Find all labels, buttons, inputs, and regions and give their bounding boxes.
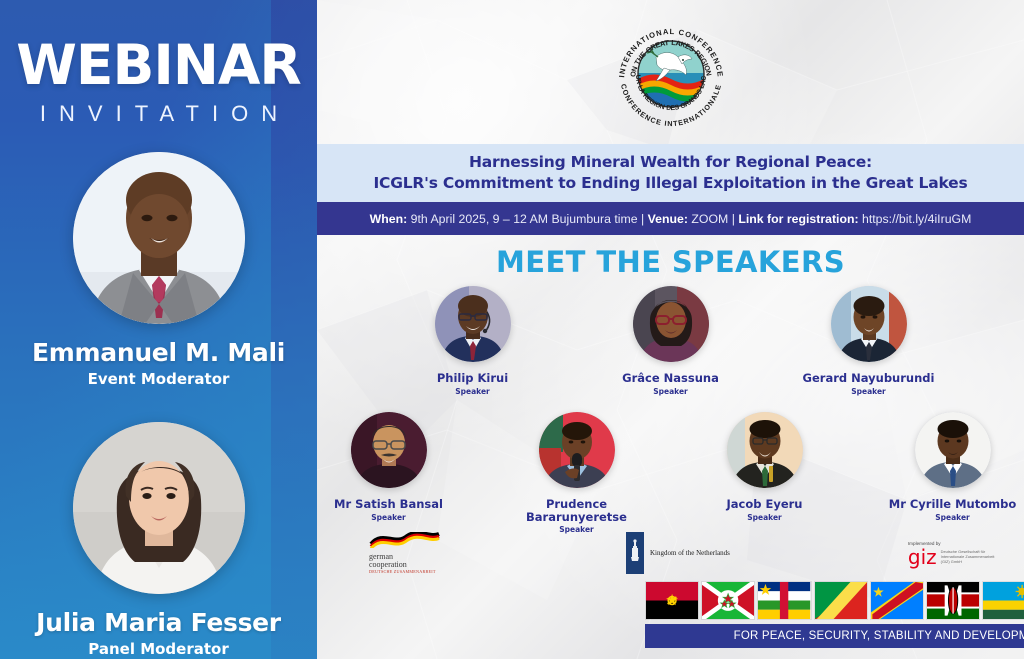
- speaker-card-gerard-nayuburundi: Gerard Nayuburundi Speaker: [802, 286, 936, 396]
- avatar-emmanuel-mali: [73, 152, 245, 324]
- speaker-card-prudence-bararunyeretse: Prudence Bararunyeretse Speaker: [510, 412, 644, 534]
- logo-area: INTERNATIONAL CONFERENCE ON THE GREAT LA…: [317, 8, 1024, 140]
- avatar-jacob-eyeru: [727, 412, 803, 488]
- speakers-row-2: Mr Satish Bansal Speaker: [317, 412, 1024, 534]
- flag-kenya: [926, 581, 980, 620]
- details-separator-1: |: [641, 212, 644, 226]
- registration-link-url[interactable]: https://bit.ly/4iIruGM: [862, 212, 971, 226]
- moderator-card-emmanuel-mali: Emmanuel M. Mali Event Moderator: [0, 152, 317, 388]
- sponsor-giz: Implemented by giz Deutsche Gesellschaft…: [908, 541, 1003, 566]
- venue-value: ZOOM: [691, 212, 728, 226]
- flag-burundi: [701, 581, 755, 620]
- speaker-role: Speaker: [698, 513, 832, 522]
- webinar-invitation-poster: WEBINAR INVITATION: [0, 0, 1024, 659]
- tagline-text: FOR PEACE, SECURITY, STABILITY AND DEVEL…: [734, 630, 1024, 642]
- registration-link-label: Link for registration:: [738, 212, 858, 226]
- moderator-role: Panel Moderator: [0, 640, 317, 658]
- poster-title-block: WEBINAR INVITATION: [0, 38, 317, 127]
- speaker-name: Grâce Nassuna: [604, 372, 738, 385]
- german-flag-swoosh-icon: [369, 532, 441, 548]
- speakers-row-1: Philip Kirui Speaker: [317, 286, 1024, 396]
- flag-congo: [814, 581, 868, 620]
- speaker-role: Speaker: [406, 387, 540, 396]
- giz-full-name: Deutsche Gesellschaft für Internationale…: [941, 549, 1003, 564]
- speaker-name: Gerard Nayuburundi: [802, 372, 936, 385]
- speaker-role: Speaker: [322, 513, 456, 522]
- event-details-band: When: 9th April 2025, 9 – 12 AM Bujumbur…: [317, 202, 1024, 235]
- avatar-grace-nassuna: [633, 286, 709, 362]
- event-title-line-1: Harnessing Mineral Wealth for Regional P…: [469, 152, 872, 173]
- speaker-card-grace-nassuna: Grâce Nassuna Speaker: [604, 286, 738, 396]
- netherlands-label: Kingdom of the Netherlands: [650, 549, 730, 557]
- speakers-heading: MEET THE SPEAKERS: [317, 245, 1024, 279]
- moderator-name: Julia Maria Fesser: [0, 608, 317, 637]
- moderator-role: Event Moderator: [0, 370, 317, 388]
- speaker-name: Mr Satish Bansal: [322, 498, 456, 511]
- speaker-role: Speaker: [886, 513, 1020, 522]
- details-separator-2: |: [732, 212, 735, 226]
- left-panel: WEBINAR INVITATION: [0, 0, 317, 659]
- speaker-name: Mr Cyrille Mutombo: [886, 498, 1020, 511]
- page-title: WEBINAR: [0, 38, 317, 93]
- speaker-card-satish-bansal: Mr Satish Bansal Speaker: [322, 412, 456, 534]
- flag-rwanda: [982, 581, 1024, 620]
- giz-wordmark: giz: [908, 548, 937, 566]
- when-value: 9th April 2025, 9 – 12 AM Bujumbura time: [411, 212, 638, 226]
- moderator-name: Emmanuel M. Mali: [0, 338, 317, 367]
- avatar-philip-kirui: [435, 286, 511, 362]
- german-cooperation-line-3: DEUTSCHE ZUSAMMENARBEIT: [369, 570, 441, 574]
- speaker-name: Philip Kirui: [406, 372, 540, 385]
- page-subtitle: INVITATION: [0, 101, 317, 127]
- when-label: When:: [370, 212, 408, 226]
- speaker-card-jacob-eyeru: Jacob Eyeru Speaker: [698, 412, 832, 534]
- flag-central-african-republic: [757, 581, 811, 620]
- avatar-julia-fesser: [73, 422, 245, 594]
- event-title-band: Harnessing Mineral Wealth for Regional P…: [317, 144, 1024, 202]
- moderator-card-julia-fesser: Julia Maria Fesser Panel Moderator: [0, 422, 317, 658]
- flag-dr-congo: [870, 581, 924, 620]
- avatar-cyrille-mutombo: [915, 412, 991, 488]
- venue-label: Venue:: [648, 212, 688, 226]
- event-details-text: When: 9th April 2025, 9 – 12 AM Bujumbur…: [370, 212, 972, 226]
- netherlands-crest-icon: [626, 532, 644, 574]
- avatar-satish-bansal: [351, 412, 427, 488]
- speaker-role: Speaker: [802, 387, 936, 396]
- speaker-name: Jacob Eyeru: [698, 498, 832, 511]
- flag-angola: [645, 581, 699, 620]
- member-state-flags: [645, 581, 1024, 620]
- sponsors-row: german cooperation DEUTSCHE ZUSAMMENARBE…: [317, 530, 1024, 576]
- speaker-card-philip-kirui: Philip Kirui Speaker: [406, 286, 540, 396]
- sponsor-kingdom-of-netherlands: Kingdom of the Netherlands: [626, 532, 730, 574]
- event-title-line-2: ICGLR's Commitment to Ending Illegal Exp…: [373, 173, 967, 194]
- avatar-prudence-bararunyeretse: [539, 412, 615, 488]
- sponsor-german-cooperation: german cooperation DEUTSCHE ZUSAMMENARBE…: [369, 532, 441, 574]
- avatar-gerard-nayuburundi: [831, 286, 907, 362]
- speaker-role: Speaker: [604, 387, 738, 396]
- tagline-banner: FOR PEACE, SECURITY, STABILITY AND DEVEL…: [645, 624, 1024, 648]
- speaker-name: Prudence Bararunyeretse: [510, 498, 644, 523]
- speaker-card-cyrille-mutombo: Mr Cyrille Mutombo Speaker: [886, 412, 1020, 534]
- icglr-logo: INTERNATIONAL CONFERENCE ON THE GREAT LA…: [610, 13, 732, 135]
- right-panel: INTERNATIONAL CONFERENCE ON THE GREAT LA…: [317, 0, 1024, 659]
